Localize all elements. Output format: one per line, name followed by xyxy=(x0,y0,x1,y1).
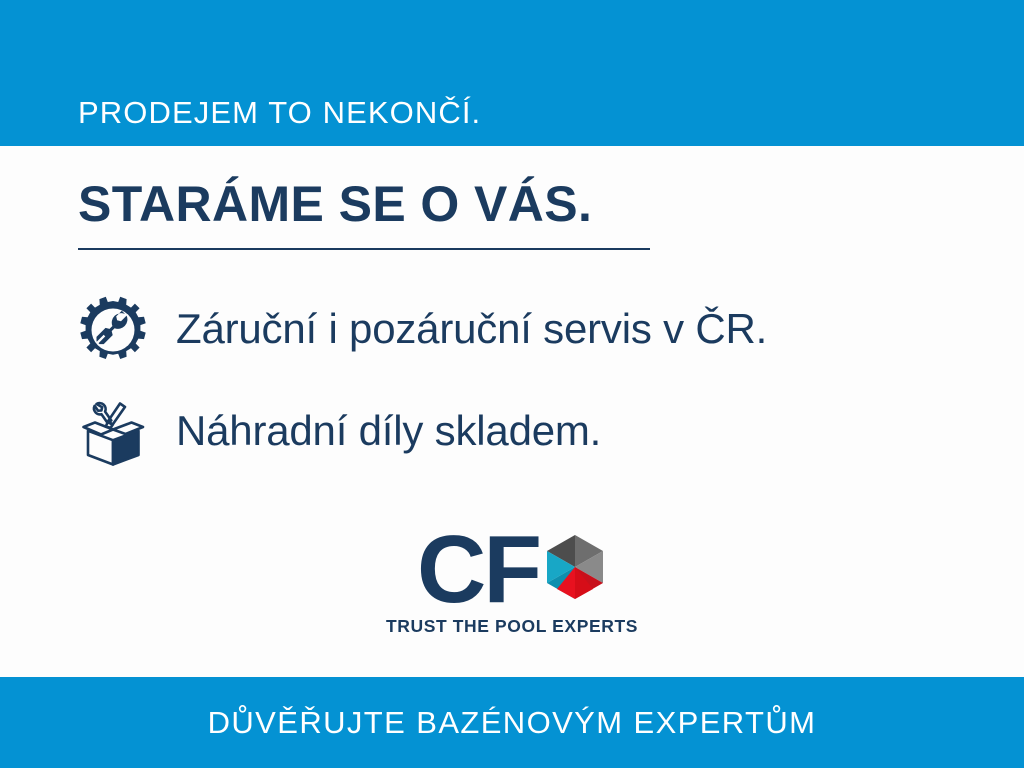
list-item-label: Záruční i pozáruční servis v ČR. xyxy=(176,306,767,352)
open-box-tools-icon xyxy=(72,396,154,468)
list-item-label: Náhradní díly skladem. xyxy=(176,408,601,454)
logo-wordmark: CF xyxy=(417,531,539,610)
logo-tagline: TRUST THE POOL EXPERTS xyxy=(386,616,638,637)
list-item: Náhradní díly skladem. xyxy=(72,396,1024,468)
top-banner: PRODEJEM TO NEKONČÍ. xyxy=(0,0,1024,146)
promo-poster: PRODEJEM TO NEKONČÍ. STARÁME SE O VÁS. xyxy=(0,0,1024,768)
feature-list: Záruční i pozáruční servis v ČR. xyxy=(0,294,1024,468)
page-title: STARÁME SE O VÁS. xyxy=(78,178,1024,231)
gear-wrench-icon xyxy=(72,294,154,366)
title-divider xyxy=(78,248,650,250)
brand-logo: CF xyxy=(0,518,1024,637)
hexagon-cube-icon xyxy=(543,533,607,606)
bottom-banner-text: DŮVĚŘUJTE BAZÉNOVÝM EXPERTŮM xyxy=(208,707,817,738)
main-content: STARÁME SE O VÁS. xyxy=(0,146,1024,677)
headline-block: STARÁME SE O VÁS. xyxy=(0,146,1024,250)
bottom-banner: DŮVĚŘUJTE BAZÉNOVÝM EXPERTŮM xyxy=(0,677,1024,768)
list-item: Záruční i pozáruční servis v ČR. xyxy=(72,294,1024,366)
eyebrow-text: PRODEJEM TO NEKONČÍ. xyxy=(78,97,481,128)
logo-mark: CF xyxy=(417,518,607,610)
